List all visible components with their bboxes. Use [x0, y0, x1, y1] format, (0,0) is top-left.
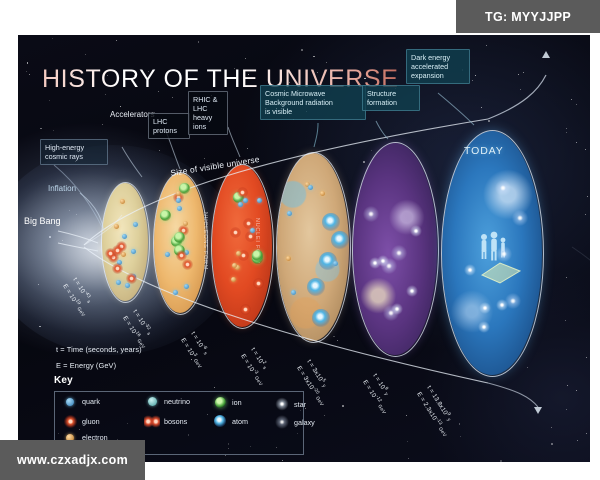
gluon-particle: [245, 231, 256, 242]
quark-particle: [308, 185, 313, 190]
quark-particle: [250, 228, 255, 233]
gluon-particle: [253, 278, 264, 289]
quark-particle: [133, 222, 138, 227]
quark-particle: [116, 280, 121, 285]
quark-particle: [257, 198, 262, 203]
quark-particle: [122, 234, 127, 239]
star-particle: [496, 299, 508, 311]
electron-particle: [320, 191, 325, 196]
galaxy-particle: [496, 246, 512, 262]
atom-particle: [312, 309, 330, 327]
star-particle: [406, 285, 418, 297]
electron-particle: [176, 191, 181, 196]
electron-particle: [120, 199, 125, 204]
star-particle: [410, 225, 422, 237]
atom-particle: [331, 231, 349, 249]
ion-particle: [179, 183, 190, 194]
electron-particle: [183, 221, 188, 226]
gluon-particle: [112, 245, 123, 256]
quark-particle: [287, 211, 292, 216]
quark-particle: [184, 284, 189, 289]
star-particle: [464, 264, 476, 276]
atom-particle: [307, 278, 325, 296]
website-watermark: www.czxadjx.com: [0, 440, 145, 480]
galaxy-particle: [363, 206, 379, 222]
star-particle: [478, 321, 490, 333]
star-particle: [391, 303, 403, 315]
electron-particle: [286, 256, 291, 261]
gluon-particle: [237, 187, 248, 198]
electron-particle: [231, 277, 236, 282]
ion-particle: [160, 210, 171, 221]
ion-particle: [174, 232, 185, 243]
quark-particle: [173, 290, 178, 295]
galaxy-particle: [391, 245, 407, 261]
gluon-particle: [240, 304, 251, 315]
universe-history-poster: HISTORY OF THE UNIVERSE POSSIBLE DARK MA…: [18, 35, 590, 462]
screenshot-root: HISTORY OF THE UNIVERSE POSSIBLE DARK MA…: [0, 0, 600, 480]
gluon-particle: [230, 227, 241, 238]
telegram-watermark: TG: MYYJJPP: [456, 0, 600, 33]
epoch-particles-layer: [18, 35, 590, 462]
atom-particle: [322, 213, 340, 231]
quark-particle: [125, 283, 130, 288]
quark-particle: [238, 202, 243, 207]
quark-particle: [291, 290, 296, 295]
gluon-particle: [243, 218, 254, 229]
galaxy-particle: [512, 210, 528, 226]
quark-particle: [177, 206, 182, 211]
gluon-particle: [112, 263, 123, 274]
star-particle: [479, 302, 491, 314]
quark-particle: [243, 198, 248, 203]
galaxy-particle: [495, 180, 511, 196]
quark-particle: [333, 261, 338, 266]
gluon-particle: [176, 250, 187, 261]
quark-particle: [165, 252, 170, 257]
electron-particle: [114, 224, 119, 229]
quark-particle: [131, 249, 136, 254]
